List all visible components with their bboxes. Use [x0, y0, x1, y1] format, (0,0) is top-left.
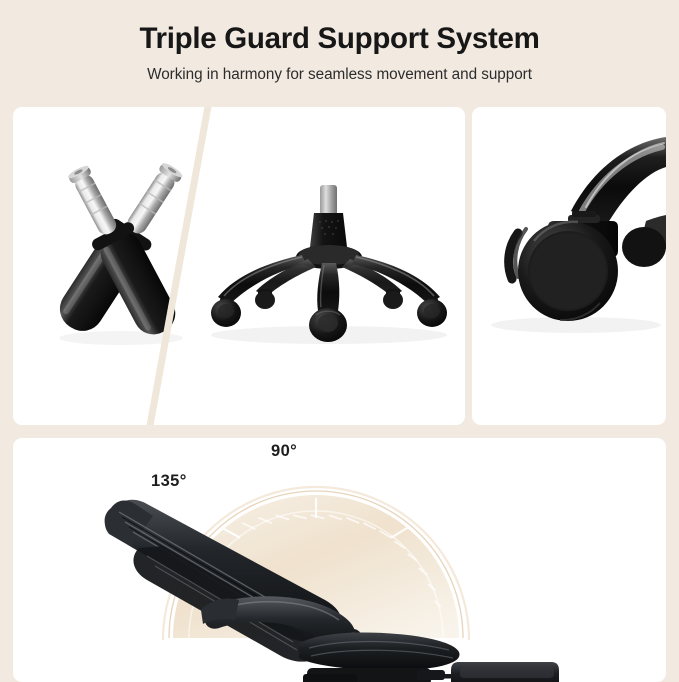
- recline-angle-90: 90°: [271, 442, 297, 461]
- reclined-chair: [105, 500, 559, 682]
- page-title: Triple Guard Support System: [0, 0, 679, 56]
- caster-base-illustration: [198, 185, 460, 345]
- recline-card: 135° 90°: [13, 438, 666, 682]
- page-root: Triple Guard Support System Working in h…: [0, 0, 679, 679]
- gas-lift-illustration: [33, 152, 208, 347]
- feature-card-base: Heavy-Duty Base: [472, 107, 666, 425]
- heavy-duty-base-illustration: [476, 125, 666, 340]
- protractor-arc: [163, 487, 469, 640]
- card-diagonal-divider: [13, 107, 465, 425]
- page-subtitle: Working in harmony for seamless movement…: [0, 56, 679, 84]
- recline-illustration: [13, 438, 666, 682]
- feature-card-pair: Class 3 Gas Lift Silent-Roll Casters: [13, 107, 465, 425]
- recline-angle-135: 135°: [151, 472, 187, 491]
- page-header: Triple Guard Support System Working in h…: [0, 0, 679, 84]
